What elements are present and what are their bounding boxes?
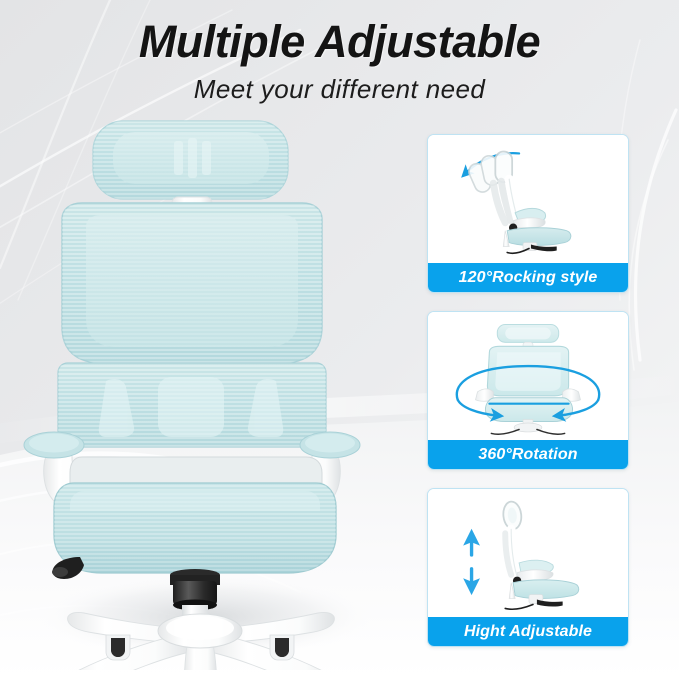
page-title: Multiple Adjustable xyxy=(0,16,679,68)
feature-card-rocking[interactable]: 120°Rocking style xyxy=(427,134,629,293)
chair-caster xyxy=(106,635,130,660)
chair-caster xyxy=(270,635,294,660)
feature-illustration-height xyxy=(428,489,628,617)
feature-illustration-rocking xyxy=(428,135,628,263)
chair-front-view-rotating-icon xyxy=(428,312,628,440)
feature-illustration-rotation xyxy=(428,312,628,440)
chair-backrest xyxy=(62,203,322,363)
hero-product-image xyxy=(10,105,410,670)
poster-heading-block: Multiple Adjustable Meet your different … xyxy=(0,16,679,105)
chair-side-view-reclining-icon xyxy=(428,135,628,263)
seat xyxy=(513,580,579,599)
feature-label-rotation: 360°Rotation xyxy=(428,440,628,469)
chair-side-view-height-icon xyxy=(428,489,628,617)
seat xyxy=(507,228,571,246)
chair-lumbar-support xyxy=(58,363,326,447)
tilt-adjust-lever xyxy=(52,557,84,579)
feature-card-height[interactable]: Hight Adjustable xyxy=(427,488,629,647)
headrest xyxy=(497,325,558,350)
feature-card-list: 120°Rocking style xyxy=(427,134,629,647)
seat xyxy=(485,398,572,422)
feature-label-height: Hight Adjustable xyxy=(428,617,628,646)
feature-label-rocking: 120°Rocking style xyxy=(428,263,628,292)
office-chair-front-illustration xyxy=(10,105,410,670)
product-feature-poster: Multiple Adjustable Meet your different … xyxy=(0,0,679,679)
feature-card-rotation[interactable]: 360°Rotation xyxy=(427,311,629,470)
chair-seat xyxy=(54,457,336,573)
page-subtitle: Meet your different need xyxy=(0,74,679,105)
